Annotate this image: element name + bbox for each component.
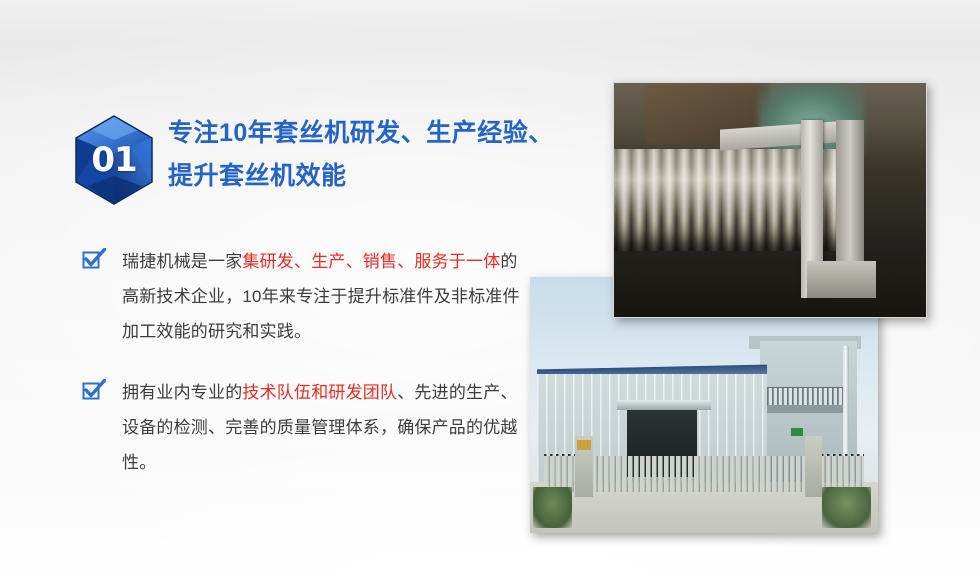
bullet-2-seg-0: 拥有业内专业的 [122,383,242,402]
bullet-1-seg-1-highlight: 集研发、生产、销售、服务于一体 [242,252,500,271]
bullet-1-seg-0: 瑞捷机械是一家 [122,252,242,271]
threaded-rod-image [614,83,926,317]
check-square-icon [82,248,106,270]
headline-row: 01 专注10年套丝机研发、生产经验、 提升套丝机效能 [72,112,532,208]
balcony-slab [767,405,844,413]
shrub-left [533,487,571,528]
shrub-right [822,487,871,528]
headline-line-1: 专注10年套丝机研发、生产经验、 [168,112,532,155]
exit-sign [791,428,803,436]
caliper-jaw [836,120,864,284]
bullet-2-seg-1-highlight: 技术队伍和研发团队 [242,383,397,402]
gate-pillar-right [805,436,822,497]
bullet-text-1: 瑞捷机械是一家集研发、生产、销售、服务于一体的高新技术企业，10年来专注于提升标… [122,244,532,349]
bullet-text-2: 拥有业内专业的技术队伍和研发团队、先进的生产、设备的检测、完善的质量管理体系，确… [122,375,532,480]
check-square-icon [82,379,106,401]
page-title: 专注10年套丝机研发、生产经验、 提升套丝机效能 [168,112,532,198]
company-plaque [577,440,592,450]
threaded-rod-caliper-photo [613,82,927,318]
step-number-badge: 01 [72,114,156,206]
bullet-list: 瑞捷机械是一家集研发、生产、销售、服务于一体的高新技术企业，10年来专注于提升标… [72,244,532,480]
list-item: 拥有业内专业的技术队伍和研发团队、先进的生产、设备的检测、完善的质量管理体系，确… [72,375,532,480]
headline-line-2: 提升套丝机效能 [168,155,532,198]
content-column: 01 专注10年套丝机研发、生产经验、 提升套丝机效能 瑞捷机械是一家集研发、生… [72,112,532,506]
caliper-base [807,261,876,298]
list-item: 瑞捷机械是一家集研发、生产、销售、服务于一体的高新技术企业，10年来专注于提升标… [72,244,532,349]
step-number-text: 01 [72,114,156,206]
promo-banner: 01 专注10年套丝机研发、生产经验、 提升套丝机效能 瑞捷机械是一家集研发、生… [0,0,980,588]
door-awning [617,400,711,410]
